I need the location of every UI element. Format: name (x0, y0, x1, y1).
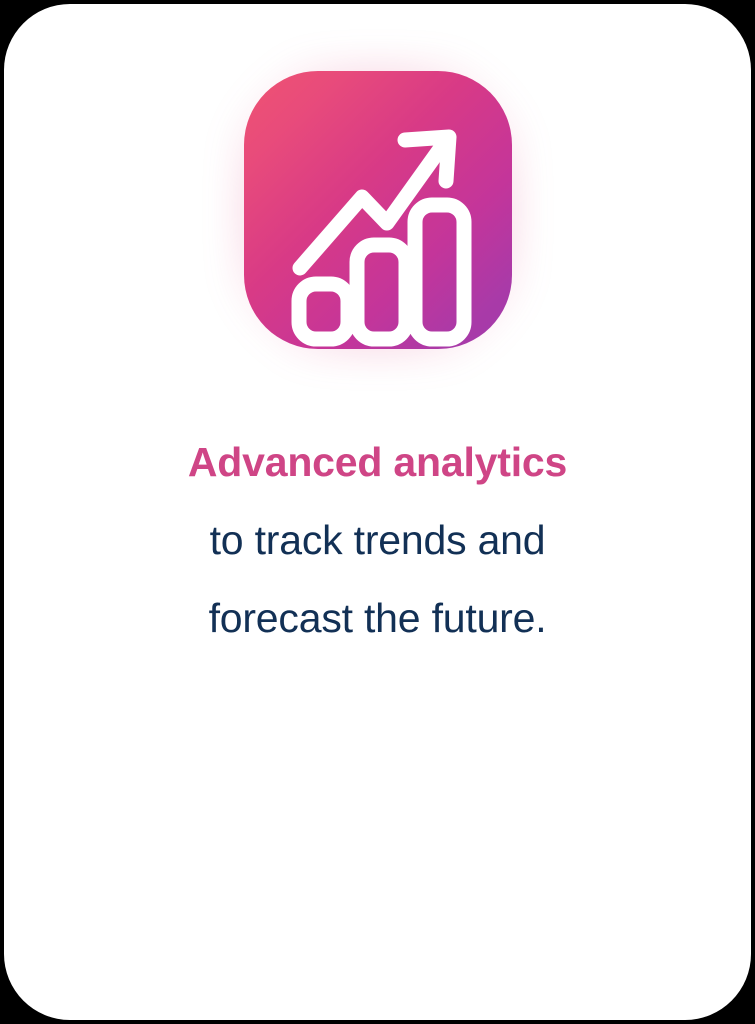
feature-body-line-1: to track trends and (4, 501, 751, 579)
feature-text: Advanced analytics to track trends and f… (4, 423, 751, 657)
feature-headline: Advanced analytics (4, 423, 751, 501)
bar-medium (357, 245, 406, 339)
bar-large (415, 205, 464, 339)
feature-icon (244, 71, 512, 349)
feature-body-line-2: forecast the future. (4, 579, 751, 657)
feature-card: Advanced analytics to track trends and f… (4, 4, 751, 1020)
analytics-growth-chart-icon (244, 71, 512, 349)
bar-small (299, 284, 348, 339)
screen-root: Advanced analytics to track trends and f… (0, 0, 755, 1024)
